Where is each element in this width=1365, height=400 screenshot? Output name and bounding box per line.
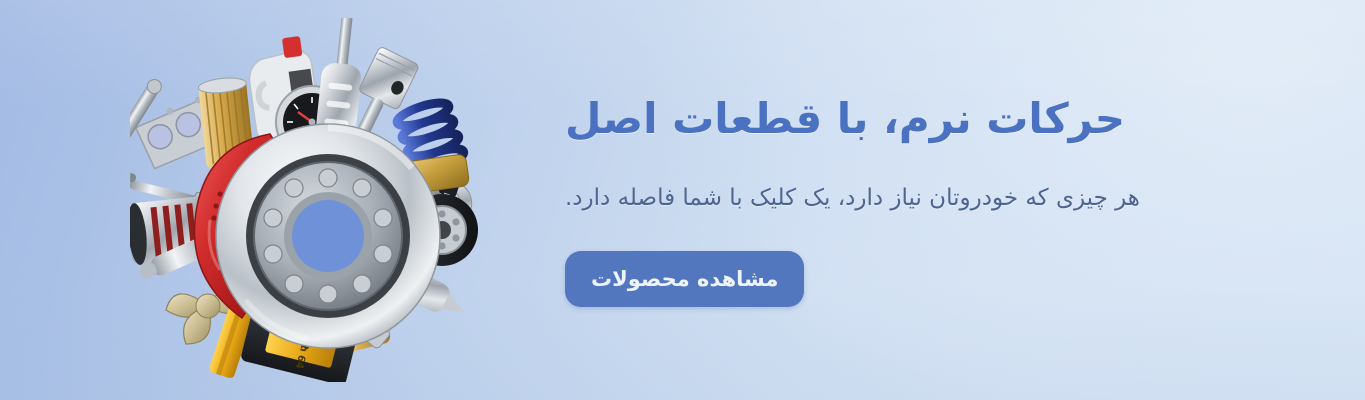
- banner-subtitle: هر چیزی که خودروتان نیاز دارد، یک کلیک ب…: [565, 182, 1140, 215]
- view-products-button[interactable]: مشاهده محصولات: [565, 251, 804, 307]
- page-title: حرکات نرم، با قطعات اصل: [565, 93, 1125, 146]
- part-brake-disc: [216, 124, 440, 348]
- banner-content: حرکات نرم، با قطعات اصل هر چیزی که خودرو…: [565, 0, 1265, 400]
- hero-banner: 80: [0, 0, 1365, 400]
- car-parts-collage: 80: [130, 18, 480, 382]
